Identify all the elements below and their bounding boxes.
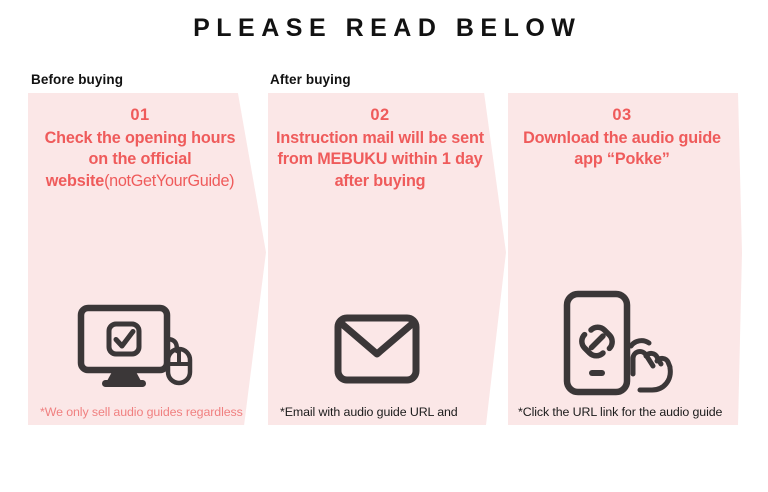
envelope-icon-wrap [268, 303, 486, 395]
smartphone-link-tap-icon-wrap [508, 289, 732, 397]
monitor-check-mouse-icon [76, 304, 198, 390]
step-card-3: 03 Download the audio guide app “Pokke” [508, 93, 742, 425]
step-card-3-inner: 03 Download the audio guide app “Pokke” [508, 93, 742, 425]
smartphone-link-tap-icon [562, 290, 678, 396]
step-card-2: 02 Instruction mail will be sent from ME… [268, 93, 506, 425]
step-title-2: Instruction mail will be sent from MEBUK… [274, 128, 486, 192]
step-card-1-notes: *We only sell audio guides regardless of… [40, 404, 248, 492]
step-title-1-light: (notGetYourGuide) [104, 172, 234, 190]
step-number-1: 01 [34, 105, 246, 127]
step-card-1: 01 Check the opening hours on the offici… [28, 93, 266, 425]
step-number-3: 03 [512, 105, 732, 127]
steps-container: 01 Check the opening hours on the offici… [0, 0, 768, 450]
step-card-1-heading: 01 Check the opening hours on the offici… [34, 105, 246, 192]
step-card-3-notes: *Click the URL link for the audio guide … [518, 404, 732, 439]
step-number-2: 02 [274, 105, 486, 127]
step-title-3: Download the audio guide app “Pokke” [512, 128, 732, 171]
note-dark-3: *Click the URL link for the audio guide … [518, 404, 732, 439]
envelope-icon [334, 313, 420, 385]
step-card-2-heading: 02 Instruction mail will be sent from ME… [274, 105, 486, 192]
step-card-2-inner: 02 Instruction mail will be sent from ME… [268, 93, 506, 425]
step-card-3-heading: 03 Download the audio guide app “Pokke” [512, 105, 732, 171]
note-dark-1: *Please make sure to check the opening h… [40, 439, 248, 492]
note-dark-2: *Email with audio guide URL and instruct… [280, 404, 488, 439]
note-red-1: *We only sell audio guides regardless of… [40, 404, 248, 439]
step-card-2-notes: *Email with audio guide URL and instruct… [280, 404, 488, 439]
step-card-1-inner: 01 Check the opening hours on the offici… [28, 93, 266, 425]
step-title-1: Check the opening hours on the official … [34, 128, 246, 192]
monitor-check-mouse-icon-wrap [28, 301, 246, 393]
